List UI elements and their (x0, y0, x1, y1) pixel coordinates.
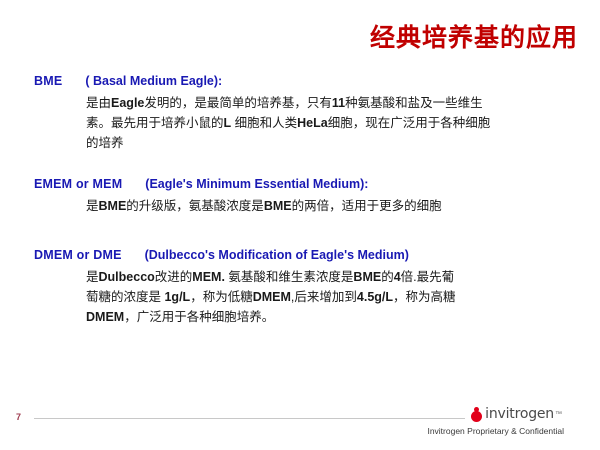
slide-title: 经典培养基的应用 (370, 18, 578, 54)
section-dmem-fullname: (Dulbecco's Modification of Eagle's Medi… (145, 248, 409, 262)
body-line: 萄糖的浓度是 1g/L，称为低糖DMEM,后来增加到4.5g/L，称为高糖 (86, 287, 574, 307)
section-dmem-body: 是Dulbecco改进的MEM. 氨基酸和维生素浓度是BME的4倍.最先葡 萄糖… (34, 267, 574, 327)
slide: 经典培养基的应用 BME ( Basal Medium Eagle): 是由Ea… (0, 0, 600, 450)
body-line: DMEM，广泛用于各种细胞培养。 (86, 307, 574, 327)
section-bme-abbr: BME (34, 74, 62, 88)
body-line: 是由Eagle发明的，是最简单的培养基，只有11种氨基酸和盐及一些维生 (86, 93, 574, 113)
section-dmem-abbr: DMEM or DME (34, 248, 122, 262)
trademark-symbol: ™ (555, 411, 562, 418)
body-line: 是Dulbecco改进的MEM. 氨基酸和维生素浓度是BME的4倍.最先葡 (86, 267, 574, 287)
brand-name: invitrogen (485, 406, 554, 422)
section-emem-heading: EMEM or MEM (Eagle's Minimum Essential M… (34, 175, 574, 193)
page-number: 7 (16, 412, 21, 422)
section-emem-body: 是BME的升级版，氨基酸浓度是BME的两倍，适用于更多的细胞 (34, 196, 574, 216)
section-bme-body: 是由Eagle发明的，是最简单的培养基，只有11种氨基酸和盐及一些维生 素。最先… (34, 93, 574, 153)
body-line: 的培养 (86, 133, 574, 153)
section-dmem-heading: DMEM or DME (Dulbecco's Modification of … (34, 246, 574, 264)
body-line: 是BME的升级版，氨基酸浓度是BME的两倍，适用于更多的细胞 (86, 196, 574, 216)
section-emem-fullname: (Eagle's Minimum Essential Medium): (145, 177, 368, 191)
section-emem-abbr: EMEM or MEM (34, 177, 122, 191)
section-dmem: DMEM or DME (Dulbecco's Modification of … (34, 246, 574, 327)
section-bme: BME ( Basal Medium Eagle): 是由Eagle发明的，是最… (34, 72, 574, 153)
confidentiality-notice: Invitrogen Proprietary & Confidential (427, 426, 564, 436)
body-line: 素。最先用于培养小鼠的L 细胞和人类HeLa细胞，现在广泛用于各种细胞 (86, 113, 574, 133)
section-bme-fullname: ( Basal Medium Eagle): (85, 74, 222, 88)
section-emem: EMEM or MEM (Eagle's Minimum Essential M… (34, 175, 574, 216)
slide-footer: 7 invitrogen ™ Invitrogen Proprietary & … (0, 404, 600, 450)
invitrogen-logo: invitrogen ™ (465, 406, 568, 422)
slide-content: BME ( Basal Medium Eagle): 是由Eagle发明的，是最… (34, 72, 574, 345)
section-bme-heading: BME ( Basal Medium Eagle): (34, 72, 574, 90)
droplet-icon (471, 407, 482, 422)
